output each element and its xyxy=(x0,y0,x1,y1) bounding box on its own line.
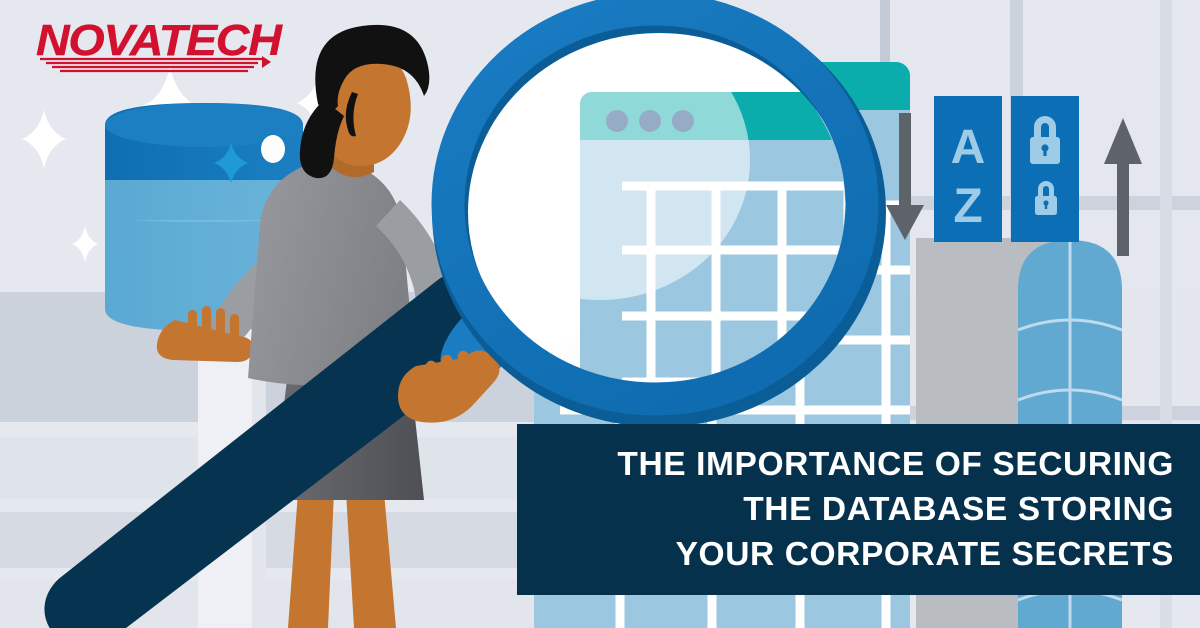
novatech-logo[interactable]: NOVATECH xyxy=(36,18,271,76)
title-card: THE IMPORTANCE OF SECURING THE DATABASE … xyxy=(517,424,1200,595)
logo-speedlines xyxy=(36,18,271,76)
banner-root: A Z xyxy=(0,0,1200,628)
title-line-1: THE IMPORTANCE OF SECURING xyxy=(617,442,1174,487)
title-line-3: YOUR CORPORATE SECRETS xyxy=(676,532,1174,577)
title-line-2: THE DATABASE STORING xyxy=(743,487,1174,532)
